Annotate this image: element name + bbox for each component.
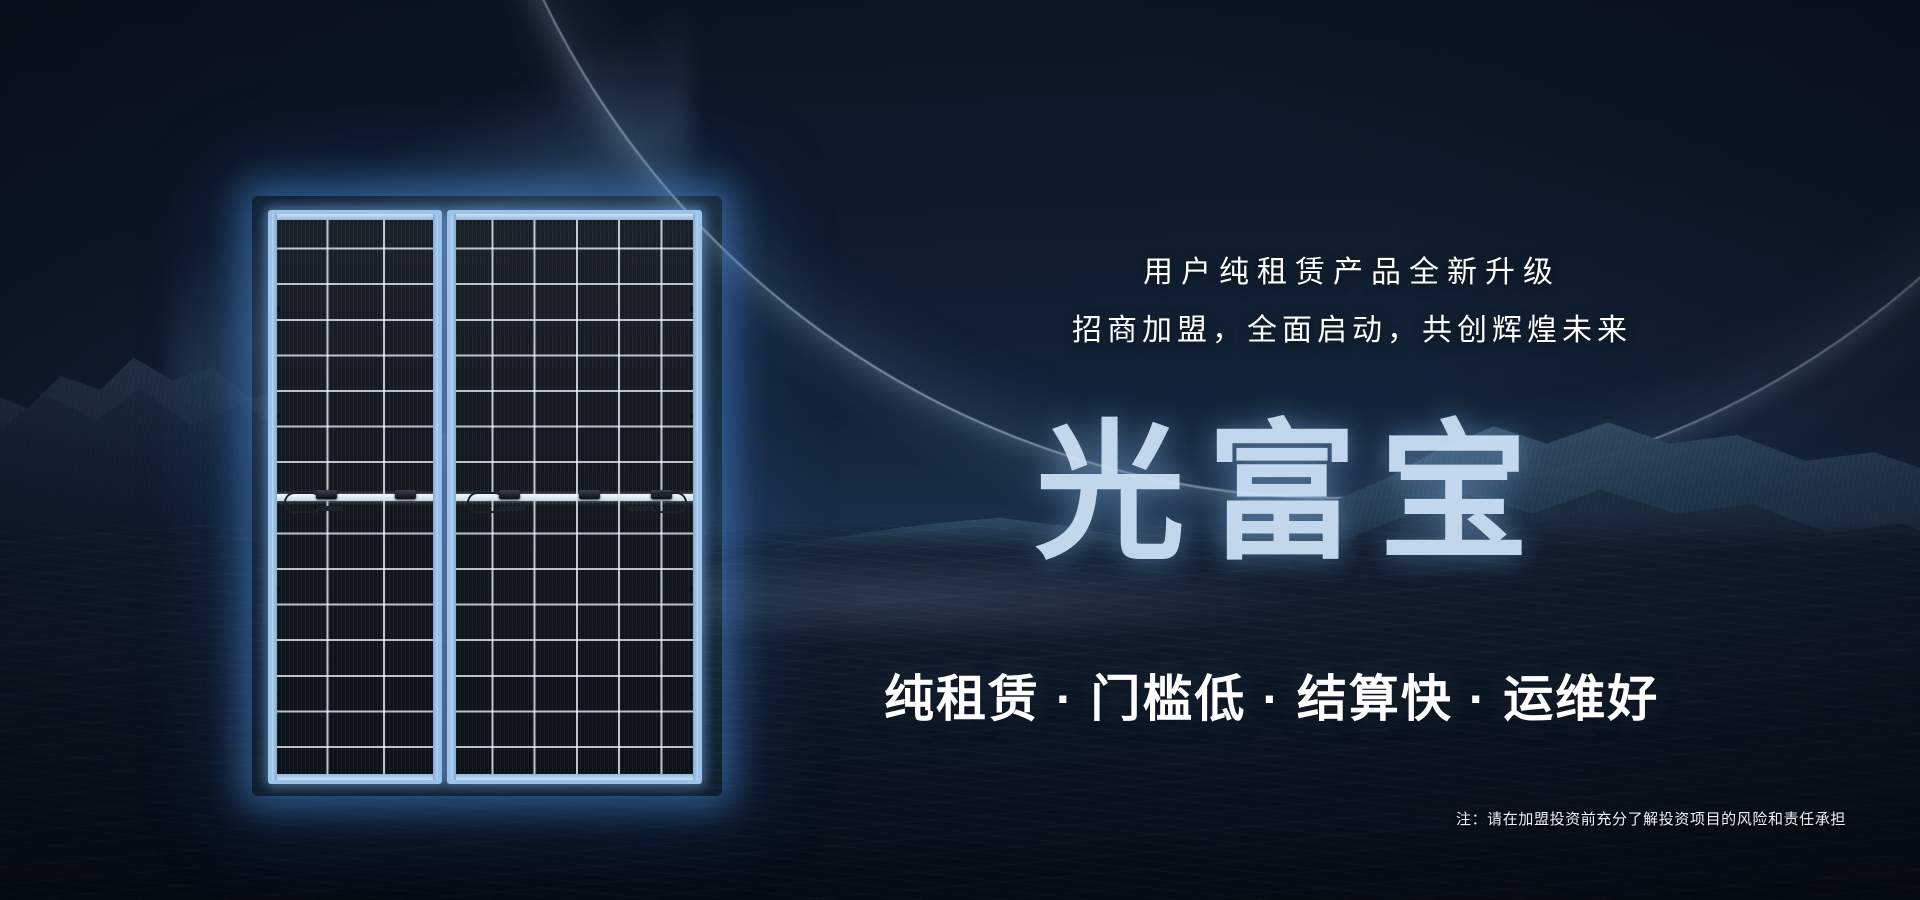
headline-line-1: 用户纯租赁产品全新升级: [972, 250, 1732, 295]
connector-cable-stub: [627, 506, 654, 511]
solar-module-right: [447, 210, 702, 784]
mounting-hole: [690, 586, 693, 591]
module-frame-bottom: [451, 774, 698, 780]
connector-cable-stub: [499, 506, 526, 511]
mounting-hole: [690, 692, 693, 697]
solar-panel: [268, 210, 702, 776]
mounting-hole: [277, 586, 280, 591]
headline-line-2: 招商加盟，全面启动，共创辉煌未来: [972, 307, 1732, 355]
connector-cable-stub: [316, 506, 343, 511]
mounting-hole: [690, 306, 693, 311]
tagline: 纯租赁 · 门槛低 · 结算快 · 运维好: [884, 672, 1659, 727]
banner-stage: 用户纯租赁产品全新升级 招商加盟，全面启动，共创辉煌未来 光富宝 纯租赁 · 门…: [0, 0, 1920, 900]
junction-box: [395, 490, 416, 499]
solar-module-left: [268, 210, 442, 784]
module-frame-top: [272, 214, 438, 220]
mounting-hole: [277, 306, 280, 311]
brand-title: 光富宝: [1035, 418, 1551, 568]
module-frame-bottom: [272, 774, 438, 780]
disclaimer-note: 注：请在加盟投资前充分了解投资项目的风险和责任承担: [1456, 808, 1846, 829]
mounting-hole: [277, 692, 280, 697]
headline-block: 用户纯租赁产品全新升级 招商加盟，全面启动，共创辉煌未来: [972, 250, 1732, 355]
module-frame-right: [433, 214, 438, 780]
module-frame-right: [693, 214, 698, 780]
mounting-hole: [690, 414, 693, 419]
connector-cable: [649, 492, 687, 513]
mounting-hole: [277, 414, 280, 419]
module-frame-left: [451, 214, 456, 780]
module-frame-top: [451, 214, 698, 220]
junction-box: [579, 490, 600, 499]
